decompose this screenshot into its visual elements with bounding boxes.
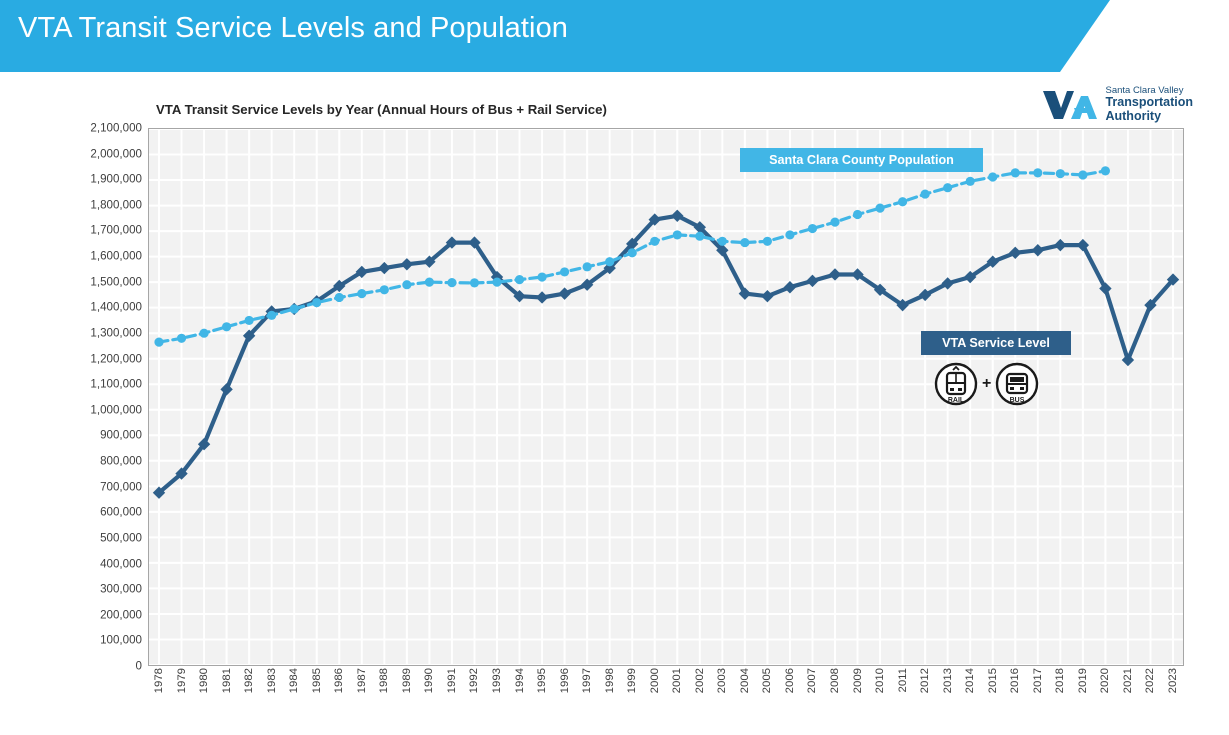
data-point (536, 291, 548, 303)
service-mode-icons: RAIL + BUS (933, 361, 1040, 407)
y-axis-tick-label: 1,800,000 (56, 198, 142, 211)
y-axis-tick-label: 1,000,000 (56, 403, 142, 416)
data-point (1122, 354, 1134, 366)
y-axis-tick-label: 400,000 (56, 557, 142, 570)
x-axis-tick-label: 1978 (153, 668, 165, 693)
data-point (808, 224, 817, 233)
data-point (740, 238, 749, 247)
x-axis-tick-label: 1988 (378, 668, 390, 693)
bus-icon-label: BUS (1010, 397, 1025, 404)
data-point (357, 289, 366, 298)
x-axis-tick-label: 1981 (221, 668, 233, 693)
data-point (1033, 168, 1042, 177)
x-axis-tick-label: 2021 (1122, 668, 1134, 693)
y-axis-tick-label: 1,600,000 (56, 250, 142, 263)
x-axis-tick-label: 1992 (468, 668, 480, 693)
x-axis-tick-label: 1994 (514, 668, 526, 693)
x-axis-tick-label: 1980 (198, 668, 210, 693)
x-axis-tick-label: 2018 (1054, 668, 1066, 693)
data-point (829, 268, 841, 280)
data-point (560, 267, 569, 276)
x-axis: 1978197919801981198219831984198519861987… (148, 668, 1184, 728)
y-axis-tick-label: 300,000 (56, 583, 142, 596)
data-point (921, 189, 930, 198)
y-axis-tick-label: 0 (56, 660, 142, 673)
data-point (673, 230, 682, 239)
chart-area: 2,100,0002,000,0001,900,0001,800,0001,70… (0, 0, 1229, 735)
data-point (245, 316, 254, 325)
bus-icon: BUS (994, 361, 1040, 407)
data-point (650, 237, 659, 246)
data-point (515, 275, 524, 284)
y-axis-tick-label: 2,000,000 (56, 147, 142, 160)
data-point (830, 218, 839, 227)
data-point (898, 197, 907, 206)
slide-root: VTA Transit Service Levels and Populatio… (0, 0, 1229, 735)
data-point (558, 287, 570, 299)
data-point (583, 262, 592, 271)
data-point (380, 285, 389, 294)
x-axis-tick-label: 1997 (581, 668, 593, 693)
data-point (966, 177, 975, 186)
x-axis-tick-label: 2020 (1099, 668, 1111, 693)
x-axis-tick-label: 1986 (333, 668, 345, 693)
data-point (199, 329, 208, 338)
x-axis-tick-label: 2023 (1167, 668, 1179, 693)
data-point (447, 278, 456, 287)
y-axis-tick-label: 600,000 (56, 506, 142, 519)
data-point (290, 304, 299, 313)
data-point (695, 232, 704, 241)
x-axis-tick-label: 1985 (311, 668, 323, 693)
x-axis-tick-label: 1979 (176, 668, 188, 693)
x-axis-tick-label: 1991 (446, 668, 458, 693)
y-axis-tick-label: 800,000 (56, 455, 142, 468)
x-axis-tick-label: 2006 (784, 668, 796, 693)
x-axis-tick-label: 2022 (1144, 668, 1156, 693)
x-axis-tick-label: 2009 (852, 668, 864, 693)
x-axis-tick-label: 2014 (964, 668, 976, 693)
x-axis-tick-label: 2011 (897, 668, 909, 693)
y-axis-tick-label: 1,500,000 (56, 275, 142, 288)
x-axis-tick-label: 2008 (829, 668, 841, 693)
rail-icon: RAIL (933, 361, 979, 407)
x-axis-tick-label: 1993 (491, 668, 503, 693)
x-axis-tick-label: 2010 (874, 668, 886, 693)
x-axis-tick-label: 2012 (919, 668, 931, 693)
y-axis-tick-label: 700,000 (56, 480, 142, 493)
data-point (154, 338, 163, 347)
data-point (425, 278, 434, 287)
y-axis-tick-label: 1,400,000 (56, 301, 142, 314)
data-point (988, 172, 997, 181)
x-axis-tick-label: 2004 (739, 668, 751, 693)
y-axis-tick-label: 1,700,000 (56, 224, 142, 237)
data-point (1032, 244, 1044, 256)
data-point (335, 293, 344, 302)
data-point (628, 248, 637, 257)
x-axis-tick-label: 2002 (694, 668, 706, 693)
y-axis-tick-label: 2,100,000 (56, 122, 142, 135)
x-axis-tick-label: 1984 (288, 668, 300, 693)
data-point (537, 272, 546, 281)
data-point (1078, 170, 1087, 179)
data-point (177, 334, 186, 343)
data-point (806, 275, 818, 287)
y-axis-tick-label: 900,000 (56, 429, 142, 442)
plus-symbol: + (982, 375, 991, 393)
data-point (1054, 239, 1066, 251)
y-axis: 2,100,0002,000,0001,900,0001,800,0001,70… (52, 128, 142, 666)
x-axis-tick-label: 1999 (626, 668, 638, 693)
x-axis-tick-label: 2019 (1077, 668, 1089, 693)
data-point (1101, 166, 1110, 175)
y-axis-tick-label: 1,200,000 (56, 352, 142, 365)
y-axis-tick-label: 100,000 (56, 634, 142, 647)
x-axis-tick-label: 2001 (671, 668, 683, 693)
x-axis-tick-label: 1996 (559, 668, 571, 693)
data-point (312, 298, 321, 307)
x-axis-tick-label: 2015 (987, 668, 999, 693)
x-axis-tick-label: 1995 (536, 668, 548, 693)
y-axis-tick-label: 1,300,000 (56, 326, 142, 339)
x-axis-tick-label: 1982 (243, 668, 255, 693)
x-axis-tick-label: 2013 (942, 668, 954, 693)
x-axis-tick-label: 1987 (356, 668, 368, 693)
x-axis-tick-label: 1989 (401, 668, 413, 693)
y-axis-tick-label: 1,100,000 (56, 378, 142, 391)
x-axis-tick-label: 2007 (806, 668, 818, 693)
data-point (943, 183, 952, 192)
legend-service-badge: VTA Service Level (921, 331, 1071, 355)
legend-population-badge: Santa Clara County Population (740, 148, 983, 172)
data-point (267, 311, 276, 320)
data-point (1011, 168, 1020, 177)
data-point (763, 237, 772, 246)
y-axis-tick-label: 500,000 (56, 531, 142, 544)
data-point (222, 322, 231, 331)
data-point (875, 204, 884, 213)
data-point (470, 278, 479, 287)
rail-icon-label: RAIL (948, 397, 965, 404)
data-point (853, 210, 862, 219)
data-point (378, 262, 390, 274)
x-axis-tick-label: 2005 (761, 668, 773, 693)
data-point (761, 290, 773, 302)
x-axis-tick-label: 1998 (604, 668, 616, 693)
x-axis-tick-label: 2000 (649, 668, 661, 693)
x-axis-tick-label: 2017 (1032, 668, 1044, 693)
data-point (402, 280, 411, 289)
x-axis-tick-label: 2016 (1009, 668, 1021, 693)
data-point (718, 237, 727, 246)
data-point (492, 278, 501, 287)
x-axis-tick-label: 1983 (266, 668, 278, 693)
data-point (401, 258, 413, 270)
data-point (1056, 169, 1065, 178)
data-point (785, 230, 794, 239)
x-axis-tick-label: 2003 (716, 668, 728, 693)
x-axis-tick-label: 1990 (423, 668, 435, 693)
y-axis-tick-label: 200,000 (56, 608, 142, 621)
data-point (605, 257, 614, 266)
y-axis-tick-label: 1,900,000 (56, 173, 142, 186)
